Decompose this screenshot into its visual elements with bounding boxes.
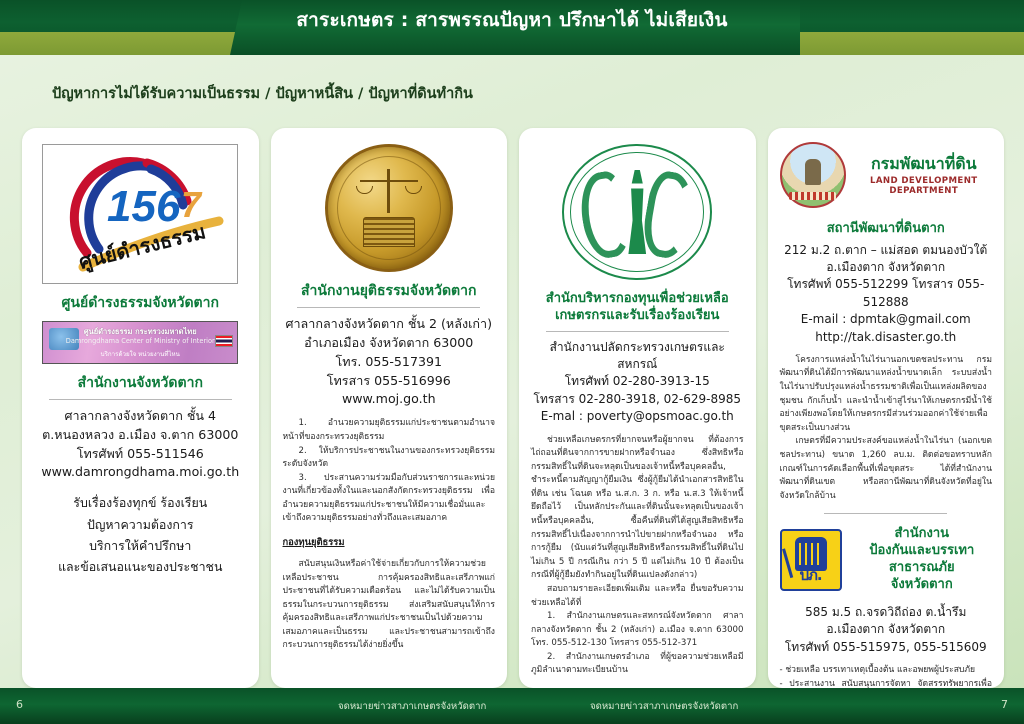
thai-flag-icon — [215, 335, 233, 347]
page-footer: 6 จดหมายข่าวสาภาเกษตรจังหวัดตาก จดหมายข่… — [0, 688, 1024, 724]
card-damrongdhama: 156 7 ศูนย์ดำรงธรรม ศูนย์ดำรงธรรมจังหวัด… — [22, 128, 259, 688]
damrongdhama-1567-icon: 156 7 ศูนย์ดำรงธรรม — [47, 149, 233, 279]
paragraph: 2. ให้บริการประชาชนในงานของกระทรวงยุติธร… — [283, 445, 496, 472]
address-line: โทรศัพท์ 055-511546 — [34, 445, 247, 464]
website-link[interactable]: www.moj.go.th — [283, 390, 496, 409]
paragraph: ช่วยเหลือเกษตรกรที่ยากจนหรือผู้ยากจน ที่… — [531, 434, 744, 583]
moi-banner-line2: Damrongdhama Center of Ministry of Inter… — [43, 337, 237, 345]
paragraph: สนับสนุนเงินหรือค่าใช้จ่ายเกี่ยวกับการให… — [283, 558, 496, 653]
address-line: 212 ม.2 ถ.ตาก – แม่สอด ตมนองบัวใต้ — [780, 242, 993, 259]
address-line: อ.เมืองตาก จังหวัดตาก — [780, 259, 993, 276]
logo-1567-icon: 156 7 ศูนย์ดำรงธรรม — [42, 144, 238, 284]
ppb-title-line2: ป้องกันและบรรเทาสาธารณภัย — [852, 543, 993, 577]
naga-left-icon — [575, 169, 635, 262]
card-land-development: กรมพัฒนาที่ดิน LAND DEVELOPMENT DEPARTME… — [768, 128, 1005, 688]
paragraph: เกษตรที่มีความประสงค์ขอแหล่งน้ำในไร่นา (… — [780, 435, 993, 503]
org-title-damrongdhama: ศูนย์ดำรงธรรมจังหวัดตาก — [34, 294, 247, 313]
phone-line: โทร. 055-517391 — [283, 353, 496, 372]
divider — [49, 399, 232, 400]
paragraph: 2. สำนักงานเกษตรอำเภอ ที่ผู้ขอความช่วยเห… — [531, 651, 744, 678]
moac-naga-seal-icon — [562, 144, 712, 280]
fax-line: โทรสาร 02-280-3918, 02-629-8985 — [531, 391, 744, 408]
services-list-damrongdhama: รับเรื่องร้องทุกข์ ร้องเรียน ปัญหาความต้… — [34, 492, 247, 577]
address-line: อำเภอเมือง จังหวัดตาก 63000 — [283, 334, 496, 353]
list-item: และข้อเสนอแนะของประชาชน — [34, 556, 247, 577]
ppb-abbrev-label: ปภ. — [782, 563, 840, 587]
card-justice-office: สำนักงานยุติธรรมจังหวัดตาก ศาลากลางจังหว… — [271, 128, 508, 688]
list-item: ปัญหาความต้องการ — [34, 514, 247, 535]
dept-name-english: LAND DEVELOPMENT DEPARTMENT — [856, 176, 993, 196]
dept-name-thai: กรมพัฒนาที่ดิน — [856, 154, 993, 173]
website-link[interactable]: www.damrongdhama.moi.go.th — [34, 463, 247, 482]
ppb-title-line1: สำนักงาน — [852, 526, 993, 543]
address-line: อ.เมืองตาก จังหวัดตาก — [780, 621, 993, 638]
footer-text-right: จดหมายข่าวสาภาเกษตรจังหวัดตาก — [590, 699, 738, 714]
list-item: รับเรื่องร้องทุกข์ ร้องเรียน — [34, 492, 247, 513]
address-line: 585 ม.5 ถ.จรดวิถีถ่อง ต.น้ำรึม — [780, 604, 993, 621]
address-block-farmer-fund: สำนักงานปลัดกระทรวงเกษตรและสหกรณ์ โทรศัพ… — [531, 339, 744, 426]
phone-line: โทรศัพท์ 055-515975, 055-515609 — [780, 639, 993, 656]
org-title-justice-office: สำนักงานยุติธรรมจังหวัดตาก — [283, 282, 496, 301]
paragraph: สอบถามรายละเอียดเพิ่มเติม และหรือ ยื่นขอ… — [531, 583, 744, 610]
org-title-farmer-fund: สำนักบริหารกองทุนเพื่อช่วยเหลือ เกษตรกรแ… — [531, 290, 744, 325]
naga-right-icon — [639, 169, 699, 262]
address-line: ต.หนองหลวง อ.เมือง จ.ตาก 63000 — [34, 426, 247, 445]
divider — [824, 513, 947, 514]
address-block-damrongdhama: ศาลากลางจังหวัดตาก ชั้น 4 ต.หนองหลวง อ.เ… — [34, 407, 247, 483]
fax-line: โทรสาร 055-516996 — [283, 372, 496, 391]
page-subtitle: ปัญหาการไม่ได้รับความเป็นธรรม / ปัญหาหนี… — [52, 82, 473, 105]
address-block-justice: ศาลากลางจังหวัดตาก ชั้น 2 (หลังเก่า) อำเ… — [283, 315, 496, 409]
svg-text:156: 156 — [107, 182, 181, 231]
justice-duties-text: 1. อำนวยความยุติธรรมแก่ประชาชนตามอำนาจหน… — [283, 417, 496, 526]
org-title-line1: สำนักบริหารกองทุนเพื่อช่วยเหลือ — [531, 290, 744, 308]
page-header: สาระเกษตร : สารพรรณปัญหา ปรึกษาได้ ไม่เส… — [0, 0, 1024, 55]
card-farmer-fund: สำนักบริหารกองทุนเพื่อช่วยเหลือ เกษตรกรแ… — [519, 128, 756, 688]
svg-text:7: 7 — [181, 184, 203, 225]
scales-of-justice-icon — [360, 169, 418, 213]
footer-text-left: จดหมายข่าวสาภาเกษตรจังหวัดตาก — [338, 699, 486, 714]
paragraph: 1. สำนักงานเกษตรและสหกรณ์จังหวัดตาก ศาลา… — [531, 610, 744, 651]
paragraph: 1. อำนวยความยุติธรรมแก่ประชาชนตามอำนาจหน… — [283, 417, 496, 444]
ppb-header-row: ปภ. สำนักงาน ป้องกันและบรรเทาสาธารณภัย จ… — [780, 526, 993, 594]
paragraph: - ประสานงาน สนับสนุนการจัดหา จัดสรรทรัพย… — [780, 678, 993, 688]
paragraph: โครงการแหล่งน้ำในไร่นานอกเขตชลประทาน กรม… — [780, 354, 993, 435]
org-title-line2: เกษตรกรและรับเรื่องร้องเรียน — [531, 307, 744, 325]
subheading-justice-fund: กองทุนยุติธรรม — [283, 535, 496, 550]
seal-base-icon — [363, 217, 415, 247]
land-development-seal-icon — [780, 142, 846, 208]
ministry-of-justice-seal-icon — [325, 144, 453, 272]
address-block-ppb: 585 ม.5 ถ.จรดวิถีถ่อง ต.น้ำรึม อ.เมืองตา… — [780, 604, 993, 656]
list-item: บริการให้คำปรึกษา — [34, 535, 247, 556]
address-line: ศาลากลางจังหวัดตาก ชั้น 4 — [34, 407, 247, 426]
ldd-header-row: กรมพัฒนาที่ดิน LAND DEVELOPMENT DEPARTME… — [780, 142, 993, 208]
station-title: สถานีพัฒนาที่ดินตาก — [780, 220, 993, 238]
phone-line: โทรศัพท์ 02-280-3913-15 — [531, 373, 744, 390]
page-title: สาระเกษตร : สารพรรณปัญหา ปรึกษาได้ ไม่เส… — [0, 0, 1024, 40]
ppb-title-line3: จังหวัดตาก — [852, 577, 993, 594]
address-line: ศาลากลางจังหวัดตาก ชั้น 2 (หลังเก่า) — [283, 315, 496, 334]
address-block-ldd: 212 ม.2 ถ.ตาก – แม่สอด ตมนองบัวใต้ อ.เมื… — [780, 242, 993, 346]
address-line: สำนักงานปลัดกระทรวงเกษตรและสหกรณ์ — [531, 339, 744, 374]
page-number-right: 7 — [1001, 698, 1008, 711]
disaster-prevention-seal-icon: ปภ. — [780, 529, 842, 591]
ppb-services-text: - ช่วยเหลือ บรรเทาเหตุเบื้องต้น และอพยพผ… — [780, 664, 993, 688]
divider — [297, 307, 480, 308]
phone-line: โทรศัพท์ 055-512299 โทรสาร 055-512888 — [780, 276, 993, 311]
divider — [546, 331, 729, 332]
email-line[interactable]: E-mail : dpmtak@gmail.com — [780, 311, 993, 328]
email-line[interactable]: E-mal : poverty@opsmoac.go.th — [531, 408, 744, 425]
moi-banner-line3: บริการด้วยใจ หน่วยงานที่ไหน — [43, 349, 237, 359]
content-columns: 156 7 ศูนย์ดำรงธรรม ศูนย์ดำรงธรรมจังหวัด… — [22, 128, 1004, 688]
paragraph: - ช่วยเหลือ บรรเทาเหตุเบื้องต้น และอพยพผ… — [780, 664, 993, 678]
website-link[interactable]: http://tak.disaster.go.th — [780, 329, 993, 346]
ldd-project-text: โครงการแหล่งน้ำในไร่นานอกเขตชลประทาน กรม… — [780, 354, 993, 503]
page-number-left: 6 — [16, 698, 23, 711]
justice-fund-text: สนับสนุนเงินหรือค่าใช้จ่ายเกี่ยวกับการให… — [283, 558, 496, 653]
farmer-fund-text: ช่วยเหลือเกษตรกรที่ยากจนหรือผู้ยากจน ที่… — [531, 434, 744, 678]
org-title-tak-office: สำนักงานจังหวัดตาก — [34, 374, 247, 393]
moi-banner-icon: ศูนย์ดำรงธรรม กระทรวงมหาดไทย Damrongdham… — [42, 321, 238, 364]
seal-figure-icon — [805, 159, 821, 185]
paragraph: 3. ประสานความร่วมมือกับส่วนราชการและหน่ว… — [283, 472, 496, 526]
